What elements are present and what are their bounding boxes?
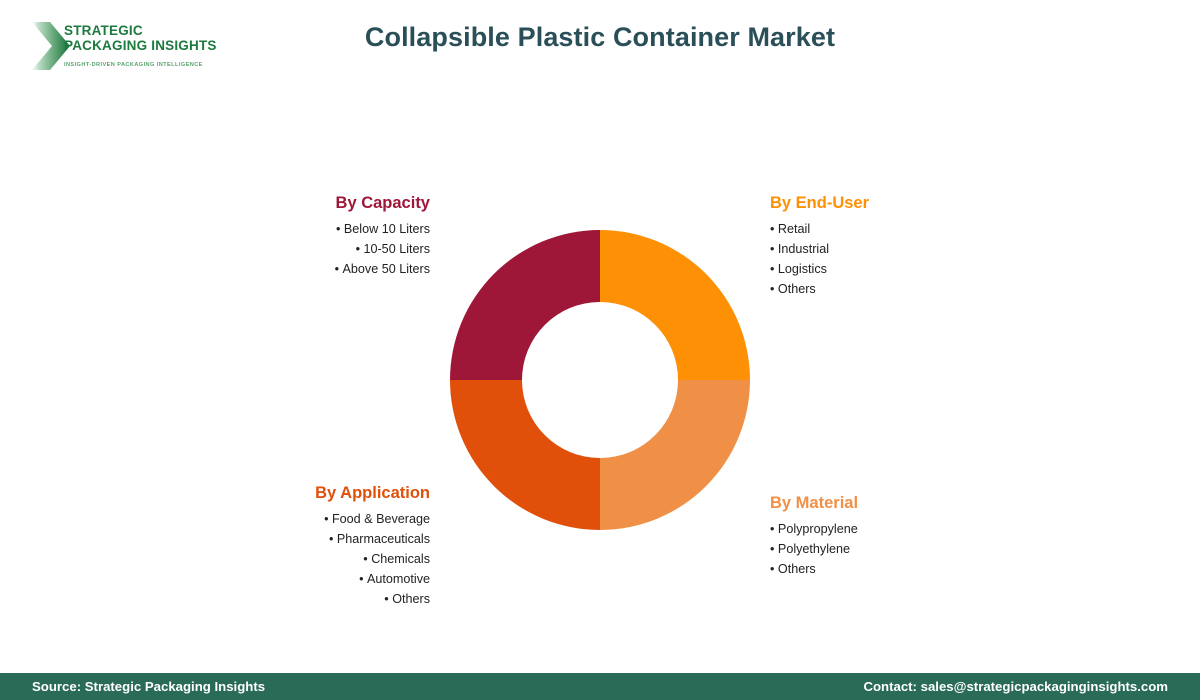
- list-item: Others: [770, 279, 1030, 299]
- segment-block-material: By Material Polypropylene Polyethylene O…: [770, 494, 1030, 579]
- list-item: Others: [770, 559, 1030, 579]
- list-item: Retail: [770, 219, 1030, 239]
- list-item: Automotive: [170, 569, 430, 589]
- donut-chart: [450, 230, 750, 530]
- list-item: Polyethylene: [770, 539, 1030, 559]
- footer-bar: Source: Strategic Packaging Insights Con…: [0, 673, 1200, 700]
- segment-heading-enduser: By End-User: [770, 194, 1030, 213]
- footer-contact[interactable]: Contact: sales@strategicpackaginginsight…: [863, 679, 1168, 694]
- list-item: Others: [170, 589, 430, 609]
- list-item: Above 50 Liters: [170, 259, 430, 279]
- segment-heading-application: By Application: [170, 484, 430, 503]
- segment-block-capacity: By Capacity Below 10 Liters 10-50 Liters…: [170, 194, 430, 279]
- list-item: 10-50 Liters: [170, 239, 430, 259]
- donut-slice-application[interactable]: [450, 380, 600, 530]
- segment-heading-capacity: By Capacity: [170, 194, 430, 213]
- list-item: Food & Beverage: [170, 509, 430, 529]
- segment-heading-material: By Material: [770, 494, 1030, 513]
- segment-list-application: Food & Beverage Pharmaceuticals Chemical…: [170, 509, 430, 609]
- segment-block-enduser: By End-User Retail Industrial Logistics …: [770, 194, 1030, 299]
- footer-source: Source: Strategic Packaging Insights: [32, 679, 265, 694]
- page-title: Collapsible Plastic Container Market: [0, 22, 1200, 53]
- segment-list-material: Polypropylene Polyethylene Others: [770, 519, 1030, 579]
- donut-slice-capacity[interactable]: [450, 230, 600, 380]
- segment-list-enduser: Retail Industrial Logistics Others: [770, 219, 1030, 299]
- segment-block-application: By Application Food & Beverage Pharmaceu…: [170, 484, 430, 609]
- logo-tagline: INSIGHT-DRIVEN PACKAGING INTELLIGENCE: [64, 62, 217, 68]
- list-item: Industrial: [770, 239, 1030, 259]
- list-item: Pharmaceuticals: [170, 529, 430, 549]
- donut-slice-enduser[interactable]: [600, 230, 750, 380]
- list-item: Logistics: [770, 259, 1030, 279]
- list-item: Polypropylene: [770, 519, 1030, 539]
- list-item: Below 10 Liters: [170, 219, 430, 239]
- list-item: Chemicals: [170, 549, 430, 569]
- donut-slice-material[interactable]: [600, 380, 750, 530]
- segment-list-capacity: Below 10 Liters 10-50 Liters Above 50 Li…: [170, 219, 430, 279]
